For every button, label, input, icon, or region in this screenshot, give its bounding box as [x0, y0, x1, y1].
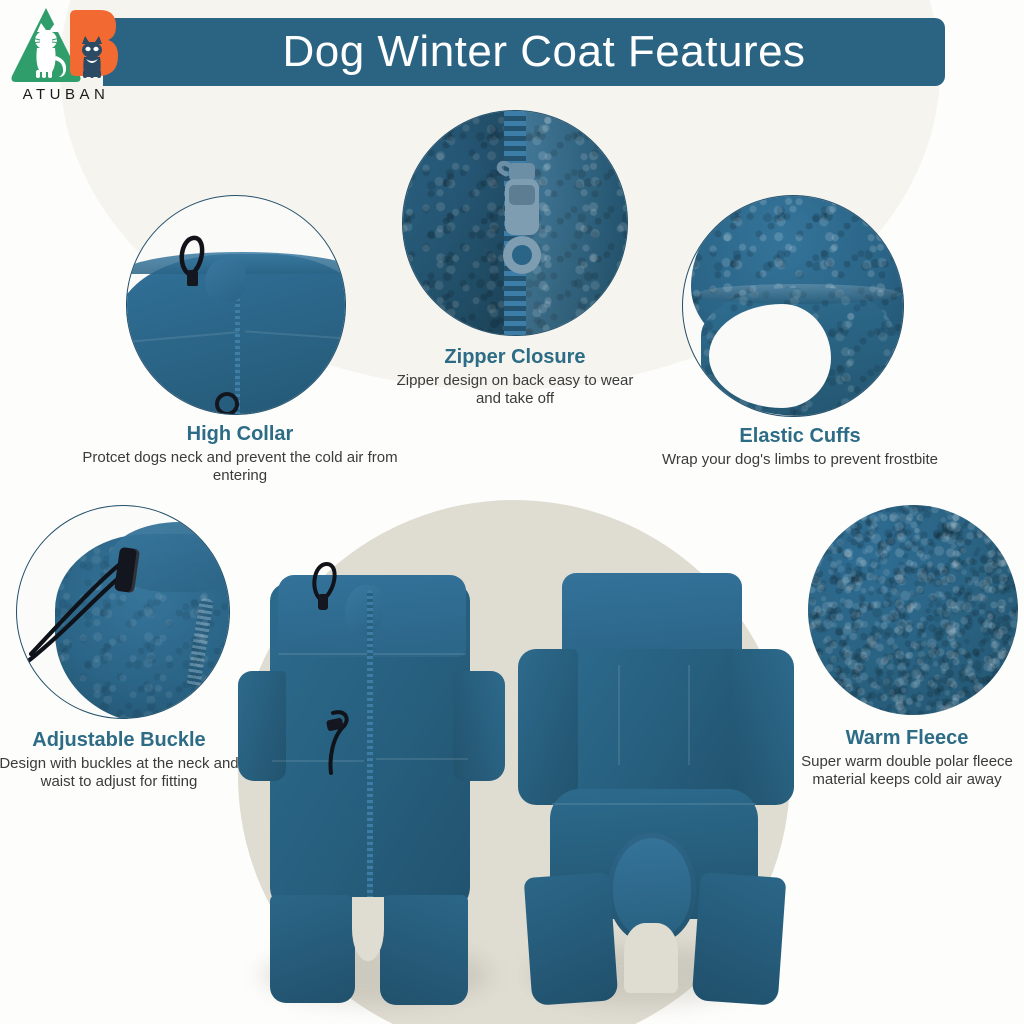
brand-logo: ATUBAN: [6, 4, 132, 112]
product-image-back-view: [500, 545, 800, 1015]
zipper-closeup-photo-icon: [402, 110, 628, 336]
page-title: Dog Winter Coat Features: [282, 30, 805, 74]
feature-title-high-collar: High Collar: [80, 423, 400, 445]
feature-desc-adjustable-buckle: Design with buckles at the neck and wais…: [0, 755, 244, 792]
feature-adjustable-buckle: Adjustable Buckle Design with buckles at…: [0, 505, 244, 792]
feature-title-elastic-cuffs: Elastic Cuffs: [660, 425, 940, 447]
feature-title-adjustable-buckle: Adjustable Buckle: [0, 729, 244, 751]
brand-name: ATUBAN: [6, 86, 126, 103]
feature-desc-high-collar: Protcet dogs neck and prevent the cold a…: [80, 449, 400, 486]
feature-desc-warm-fleece: Super warm double polar fleece material …: [790, 753, 1024, 790]
infographic-canvas: ATUBAN Dog Winter Coat Features High Col…: [0, 0, 1024, 1024]
fleece-texture-photo-icon: [808, 505, 1018, 715]
title-banner: Dog Winter Coat Features: [103, 18, 945, 86]
collar-closeup-photo-icon: [126, 195, 346, 415]
cuff-closeup-photo-icon: [682, 195, 904, 417]
product-image-front-view: [240, 545, 520, 1015]
feature-high-collar: High Collar Protcet dogs neck and preven…: [80, 195, 400, 486]
feature-zipper-closure: Zipper Closure Zipper design on back eas…: [385, 110, 645, 409]
feature-title-zipper-closure: Zipper Closure: [385, 346, 645, 368]
feature-warm-fleece: Warm Fleece Super warm double polar flee…: [790, 505, 1024, 790]
feature-elastic-cuffs: Elastic Cuffs Wrap your dog's limbs to p…: [660, 195, 940, 469]
atuban-cat-logo-icon: [6, 4, 132, 84]
feature-desc-zipper-closure: Zipper design on back easy to wear and t…: [385, 372, 645, 409]
feature-desc-elastic-cuffs: Wrap your dog's limbs to prevent frostbi…: [660, 451, 940, 469]
buckle-closeup-photo-icon: [16, 505, 230, 719]
feature-title-warm-fleece: Warm Fleece: [790, 727, 1024, 749]
